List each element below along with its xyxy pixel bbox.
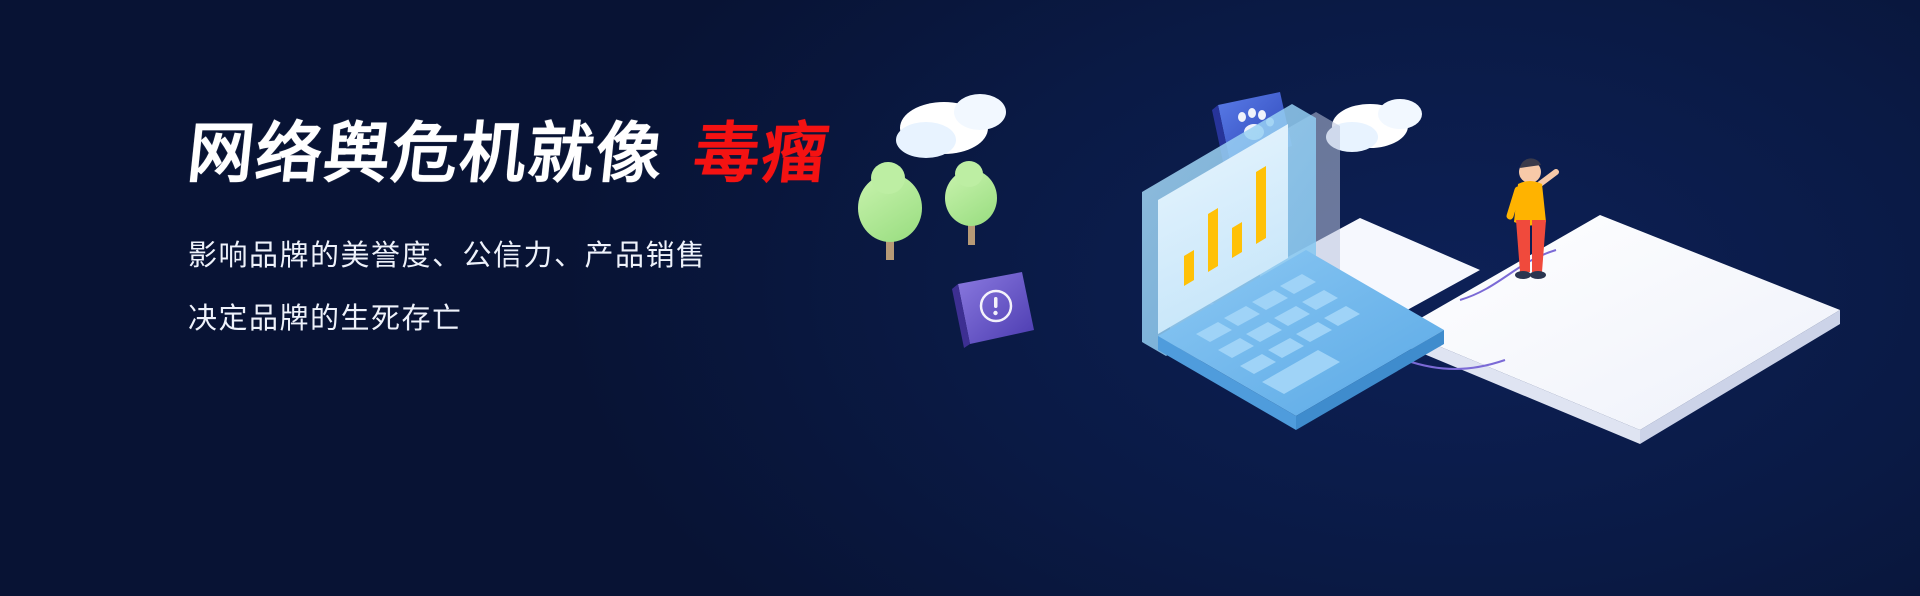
cloud-small-right bbox=[1326, 99, 1422, 152]
cloud-large-left bbox=[896, 94, 1006, 158]
hero-banner: 网络舆危机就像 毒瘤 影响品牌的美誉度、公信力、产品销售 决定品牌的生死存亡 bbox=[0, 0, 1920, 596]
alert-icon-panel bbox=[952, 272, 1034, 348]
headline-lead-text: 网络舆危机就像 bbox=[185, 120, 668, 186]
hero-illustration bbox=[840, 0, 1920, 596]
page-title: 网络舆危机就像 毒瘤 bbox=[185, 120, 912, 186]
tree-left bbox=[858, 162, 922, 260]
headline-emphasis-text: 毒瘤 bbox=[691, 120, 834, 186]
hero-copy: 网络舆危机就像 毒瘤 影响品牌的美誉度、公信力、产品销售 决定品牌的生死存亡 bbox=[188, 120, 908, 334]
tree-right bbox=[945, 161, 997, 245]
subtitle-line-1: 影响品牌的美誉度、公信力、产品销售 bbox=[188, 242, 908, 271]
subtitle-line-2: 决定品牌的生死存亡 bbox=[188, 305, 908, 334]
